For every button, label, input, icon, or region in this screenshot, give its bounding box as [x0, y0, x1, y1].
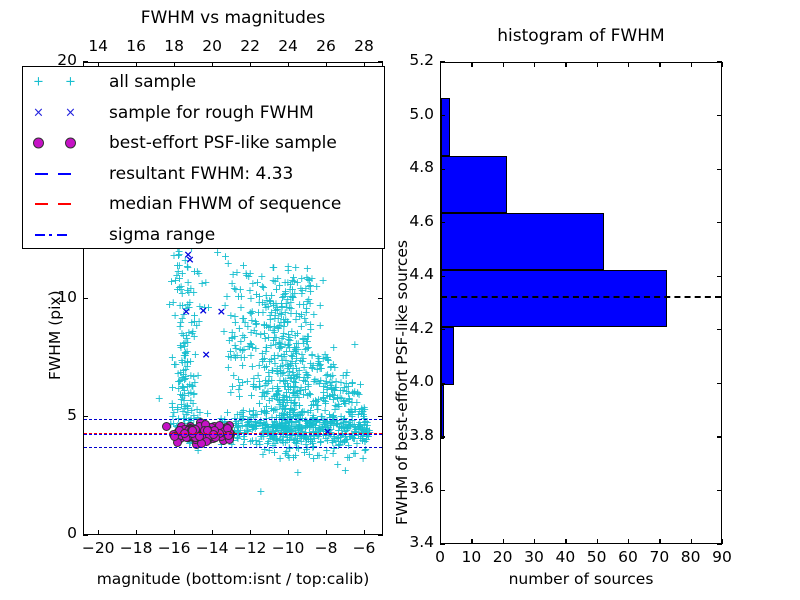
plot-legend: + + all sample × × sample for rough FWHM…: [22, 66, 385, 249]
legend-label-psf-sample: best-effort PSF-like sample: [109, 133, 337, 153]
axis-tick: [98, 530, 99, 535]
scatter-point-rough-sample: ×: [323, 426, 332, 437]
axis-tick-label: 5.2: [392, 51, 434, 69]
scatter-point-all-sample: +: [155, 393, 164, 404]
axis-tick-label: 5: [39, 406, 77, 424]
scatter-point-all-sample: +: [231, 284, 240, 295]
scatter-point-all-sample: +: [330, 362, 339, 373]
axis-tick: [440, 490, 445, 491]
scatter-point-all-sample: +: [286, 308, 295, 319]
axis-tick-label: 5.0: [392, 105, 434, 123]
axis-tick: [717, 222, 722, 223]
axis-tick-label: 16: [118, 37, 154, 55]
plus-marker-icon: + +: [23, 67, 109, 98]
axis-tick: [503, 62, 504, 67]
axis-tick: [83, 61, 88, 62]
histogram-bar: [441, 327, 454, 384]
axis-tick: [83, 298, 88, 299]
scatter-point-all-sample: +: [175, 282, 184, 293]
scatter-point-all-sample: +: [350, 339, 359, 350]
axis-tick: [471, 539, 472, 544]
axis-tick: [83, 416, 88, 417]
axis-tick: [440, 543, 445, 544]
scatter-point-all-sample: +: [316, 359, 325, 370]
scatter-point-all-sample: +: [276, 341, 285, 352]
histogram-bar: [441, 270, 667, 327]
axis-tick: [288, 530, 289, 535]
histogram-bar: [441, 156, 507, 213]
axis-tick: [378, 61, 383, 62]
scatter-point-all-sample: +: [230, 350, 239, 361]
resultant-fwhm-line: [441, 296, 721, 298]
axis-tick: [597, 539, 598, 544]
scatter-point-all-sample: +: [187, 317, 196, 328]
axis-tick-label: 4.8: [392, 158, 434, 176]
axis-tick: [378, 416, 383, 417]
scatter-point-all-sample: +: [273, 381, 282, 392]
scatter-point-all-sample: +: [288, 351, 297, 362]
scatter-point-all-sample: +: [169, 297, 178, 308]
axis-tick: [440, 329, 445, 330]
scatter-point-rough-sample: ×: [182, 306, 191, 317]
axis-tick: [250, 530, 251, 535]
axis-tick-label: 26: [308, 37, 344, 55]
axis-tick: [503, 539, 504, 544]
scatter-point-all-sample: +: [269, 262, 278, 273]
axis-tick: [717, 115, 722, 116]
scatter-point-all-sample: +: [238, 360, 247, 371]
axis-tick: [440, 62, 441, 67]
scatter-point-all-sample: +: [304, 331, 313, 342]
scatter-point-all-sample: +: [313, 450, 322, 461]
histogram-axes: [440, 62, 722, 544]
legend-item-median-fwhm: median FHWM of sequence: [23, 189, 384, 220]
legend-item-sigma-range: sigma range: [23, 220, 384, 251]
legend-label-median-fwhm: median FHWM of sequence: [109, 194, 341, 214]
histogram-bar: [441, 98, 450, 155]
axis-tick: [326, 530, 327, 535]
scatter-point-all-sample: +: [303, 263, 312, 274]
scatter-point-all-sample: +: [295, 299, 304, 310]
axis-tick: [471, 62, 472, 67]
axis-tick: [717, 61, 722, 62]
axis-tick: [440, 222, 445, 223]
scatter-point-all-sample: +: [260, 380, 269, 391]
axis-tick: [659, 539, 660, 544]
axis-tick-label: 28: [346, 37, 382, 55]
axis-tick: [212, 530, 213, 535]
axis-tick: [597, 62, 598, 67]
scatter-point-all-sample: +: [304, 381, 313, 392]
scatter-point-all-sample: +: [176, 317, 185, 328]
circle-marker-icon: [23, 128, 109, 159]
axis-tick-label: 14: [80, 37, 116, 55]
axis-tick: [440, 276, 445, 277]
legend-label-sigma-range: sigma range: [109, 225, 215, 245]
scatter-point-all-sample: +: [312, 400, 321, 411]
scatter-point-rough-sample: ×: [217, 306, 226, 317]
scatter-point-all-sample: +: [333, 459, 342, 470]
axis-tick-label: 22: [232, 37, 268, 55]
scatter-point-all-sample: +: [329, 390, 338, 401]
scatter-point-all-sample: +: [180, 385, 189, 396]
axis-tick: [691, 539, 692, 544]
scatter-point-all-sample: +: [282, 387, 291, 398]
axis-tick-label: 90: [702, 548, 742, 566]
scatter-point-all-sample: +: [283, 277, 292, 288]
axis-tick: [717, 383, 722, 384]
scatter-point-all-sample: +: [293, 467, 302, 478]
axis-tick: [83, 534, 88, 535]
axis-tick: [565, 539, 566, 544]
axis-tick: [717, 436, 722, 437]
blue-dashed-line-icon: [23, 159, 109, 190]
axis-tick: [534, 62, 535, 67]
scatter-point-all-sample: +: [228, 381, 237, 392]
scatter-point-all-sample: +: [279, 291, 288, 302]
scatter-point-all-sample: +: [168, 352, 177, 363]
legend-label-rough-fwhm: sample for rough FWHM: [109, 103, 314, 123]
scatter-point-all-sample: +: [245, 341, 254, 352]
scatter-point-rough-sample: ×: [185, 254, 194, 265]
scatter-point-all-sample: +: [246, 268, 255, 279]
scatter-ylabel: FWHM (pix): [46, 290, 64, 380]
blue-dashdot-line-icon: [23, 220, 109, 251]
axis-tick-label: 24: [270, 37, 306, 55]
axis-tick: [440, 61, 445, 62]
scatter-point-all-sample: +: [331, 376, 340, 387]
histogram-title: histogram of FWHM: [440, 26, 722, 46]
axis-tick: [717, 543, 722, 544]
scatter-point-all-sample: +: [270, 276, 279, 287]
scatter-point-all-sample: +: [316, 320, 325, 331]
scatter-point-all-sample: +: [241, 317, 250, 328]
axis-tick-label: 4.6: [392, 212, 434, 230]
scatter-point-all-sample: +: [279, 321, 288, 332]
axis-tick: [440, 383, 445, 384]
axis-tick: [174, 530, 175, 535]
scatter-point-all-sample: +: [291, 377, 300, 388]
axis-tick-label: 0: [39, 524, 77, 542]
scatter-point-all-sample: +: [176, 340, 185, 351]
axis-tick: [440, 115, 445, 116]
legend-item-resultant-fwhm: resultant FWHM: 4.33: [23, 159, 384, 190]
scatter-point-all-sample: +: [178, 357, 187, 368]
scatter-point-rough-sample: ×: [202, 349, 211, 360]
scatter-point-all-sample: +: [284, 261, 293, 272]
axis-tick: [378, 298, 383, 299]
axis-tick: [717, 490, 722, 491]
histogram-ylabel: FWHM of best-effort PSF-like sources: [393, 240, 411, 525]
axis-tick: [565, 62, 566, 67]
scatter-point-all-sample: +: [255, 360, 264, 371]
scatter-point-all-sample: +: [316, 375, 325, 386]
scatter-point-all-sample: +: [284, 339, 293, 350]
scatter-point-all-sample: +: [336, 436, 345, 447]
scatter-point-all-sample: +: [265, 356, 274, 367]
scatter-point-all-sample: +: [318, 275, 327, 286]
scatter-point-all-sample: +: [256, 486, 265, 497]
axis-tick: [628, 539, 629, 544]
scatter-point-all-sample: +: [278, 360, 287, 371]
figure-canvas: FWHM vs magnitudes +++++++++++++++++++++…: [0, 0, 800, 600]
red-dashed-line-icon: [23, 189, 109, 220]
axis-tick: [440, 169, 445, 170]
scatter-point-all-sample: +: [203, 408, 212, 419]
scatter-point-all-sample: +: [228, 327, 237, 338]
scatter-point-all-sample: +: [257, 271, 266, 282]
scatter-point-all-sample: +: [247, 390, 256, 401]
axis-tick: [717, 276, 722, 277]
axis-tick-label: 20: [194, 37, 230, 55]
scatter-point-all-sample: +: [258, 449, 267, 460]
axis-tick: [136, 530, 137, 535]
scatter-point-rough-sample: ×: [199, 305, 208, 316]
scatter-point-all-sample: +: [270, 321, 279, 332]
scatter-point-all-sample: +: [230, 311, 239, 322]
scatter-point-all-sample: +: [345, 452, 354, 463]
axis-tick: [440, 436, 445, 437]
scatter-point-all-sample: +: [190, 266, 199, 277]
axis-tick: [722, 62, 723, 67]
scatter-point-all-sample: +: [294, 392, 303, 403]
scatter-point-all-sample: +: [245, 419, 254, 430]
scatter-xlabel: magnitude (bottom:isnt / top:calib): [83, 570, 383, 588]
scatter-point-all-sample: +: [304, 342, 313, 353]
scatter-point-all-sample: +: [342, 370, 351, 381]
scatter-point-all-sample: +: [168, 402, 177, 413]
left-panel-title: FWHM vs magnitudes: [83, 8, 383, 28]
scatter-point-all-sample: +: [189, 388, 198, 399]
histogram-xlabel: number of sources: [440, 570, 722, 588]
axis-tick: [628, 62, 629, 67]
median-fwhm-line: [84, 433, 382, 434]
scatter-point-all-sample: +: [264, 332, 273, 343]
histogram-bar: [441, 213, 604, 270]
legend-item-psf-sample: best-effort PSF-like sample: [23, 128, 384, 159]
scatter-point-all-sample: +: [293, 328, 302, 339]
scatter-point-all-sample: +: [329, 342, 338, 353]
legend-item-all-sample: + + all sample: [23, 67, 384, 98]
histogram-bar: [441, 385, 444, 440]
scatter-point-all-sample: +: [251, 435, 260, 446]
scatter-point-all-sample: +: [180, 374, 189, 385]
scatter-point-all-sample: +: [304, 294, 313, 305]
legend-item-rough-fwhm: × × sample for rough FWHM: [23, 98, 384, 129]
sigma-upper-line: [84, 419, 382, 420]
axis-tick: [659, 62, 660, 67]
axis-tick: [717, 169, 722, 170]
scatter-point-all-sample: +: [305, 281, 314, 292]
axis-tick-label: 3.4: [392, 533, 434, 551]
cross-marker-icon: × ×: [23, 98, 109, 129]
legend-label-all-sample: all sample: [109, 72, 196, 92]
legend-label-resultant-fwhm: resultant FWHM: 4.33: [109, 164, 293, 184]
axis-tick: [364, 530, 365, 535]
axis-tick: [717, 329, 722, 330]
axis-tick: [722, 539, 723, 544]
axis-tick-label: −6: [342, 539, 386, 557]
scatter-point-all-sample: +: [260, 299, 269, 310]
axis-tick: [378, 534, 383, 535]
scatter-point-all-sample: +: [356, 379, 365, 390]
scatter-point-all-sample: +: [294, 443, 303, 454]
axis-tick: [534, 539, 535, 544]
sigma-lower-line: [84, 447, 382, 448]
axis-tick-label: 18: [156, 37, 192, 55]
axis-tick: [691, 62, 692, 67]
